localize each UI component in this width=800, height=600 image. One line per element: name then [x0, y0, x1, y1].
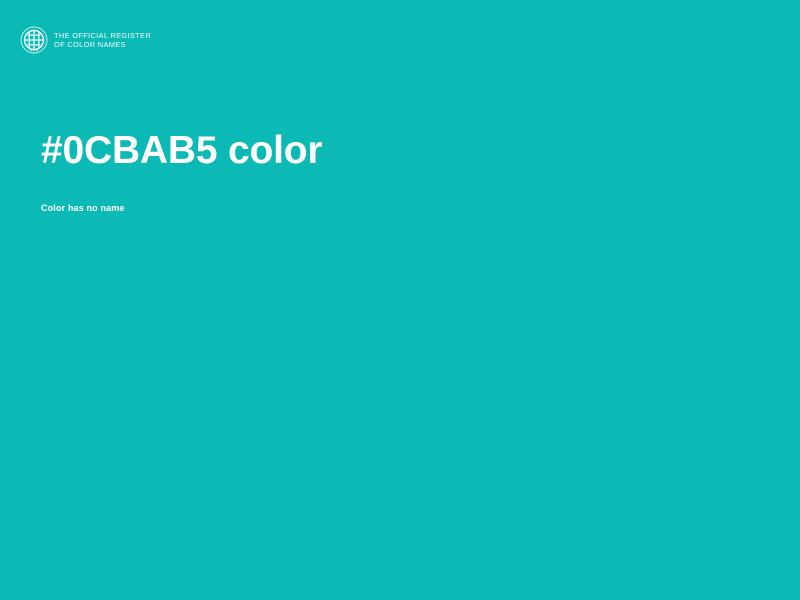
brand-line-2: OF COLOR NAMES [54, 40, 151, 49]
page-title: #0CBAB5 color [41, 128, 760, 174]
brand-text: THE OFFICIAL REGISTER OF COLOR NAMES [54, 31, 151, 50]
color-page: THE OFFICIAL REGISTER OF COLOR NAMES #0C… [0, 0, 800, 600]
brand-line-1: THE OFFICIAL REGISTER [54, 31, 151, 40]
color-name-status: Color has no name [41, 174, 760, 214]
brand-logo[interactable]: THE OFFICIAL REGISTER OF COLOR NAMES [20, 26, 151, 54]
register-seal-emblem-icon [20, 26, 48, 54]
color-info: #0CBAB5 color Color has no name [41, 128, 760, 214]
